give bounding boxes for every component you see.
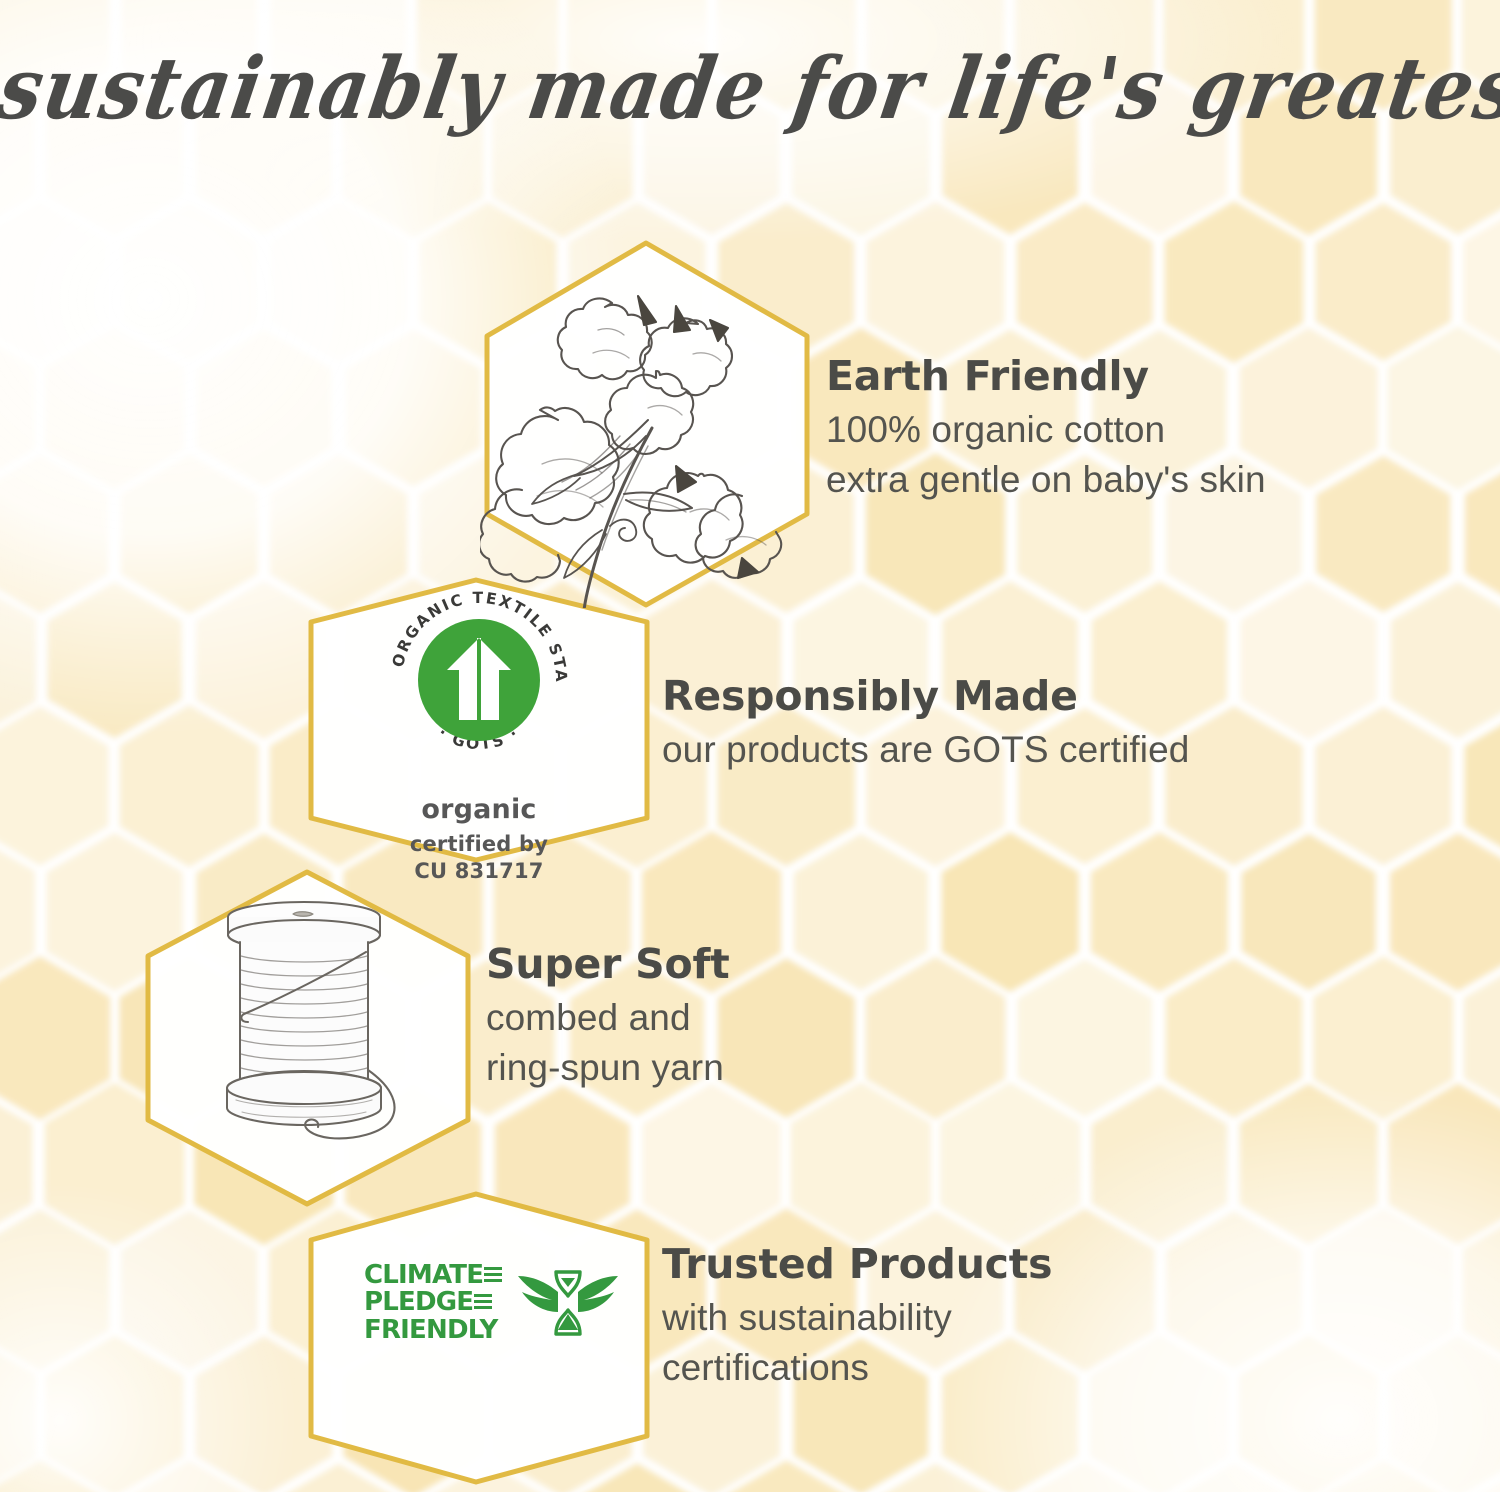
feature-text-earth-friendly: Earth Friendly 100% organic cotton extra…: [826, 352, 1266, 504]
page-title: sustainably made for life's greatest joy…: [0, 44, 1500, 133]
cpf-bars-icon: [484, 1267, 502, 1285]
cpf-line-2: PLEDGE: [364, 1289, 473, 1316]
feature-title: Super Soft: [486, 940, 730, 988]
feature-line: 100% organic cotton: [826, 405, 1266, 454]
feature-text-super-soft: Super Soft combed and ring-spun yarn: [486, 940, 730, 1092]
gots-seal-icon: GLOBAL ORGANIC TEXTILE STANDARD · GOTS ·: [334, 580, 624, 780]
cpf-line-3: FRIENDLY: [364, 1317, 498, 1344]
gots-certification-logo: GLOBAL ORGANIC TEXTILE STANDARD · GOTS ·…: [334, 580, 624, 885]
feature-line: with sustainability: [662, 1293, 1052, 1342]
winged-hourglass-icon: [516, 1262, 620, 1344]
feature-text-responsibly-made: Responsibly Made our products are GOTS c…: [662, 672, 1189, 775]
sustainability-infographic: sustainably made for life's greatest joy…: [0, 0, 1500, 1492]
feature-line: certifications: [662, 1343, 1052, 1392]
feature-title: Responsibly Made: [662, 672, 1189, 720]
feature-line: ring-spun yarn: [486, 1043, 730, 1092]
feature-title: Trusted Products: [662, 1240, 1052, 1288]
gots-certified-by: certified by: [334, 831, 624, 858]
cpf-bars-icon: [474, 1294, 492, 1312]
climate-pledge-text: CLIMATE PLEDGE FRIENDLY: [364, 1262, 502, 1343]
headline-text: sustainably made for life's greatest joy: [0, 39, 1500, 139]
cotton-branch-sketch-icon: [480, 268, 820, 608]
cpf-line-1: CLIMATE: [364, 1262, 483, 1289]
climate-pledge-friendly-logo: CLIMATE PLEDGE FRIENDLY: [364, 1262, 620, 1344]
gots-caption-organic: organic: [334, 794, 624, 825]
feature-line: our products are GOTS certified: [662, 725, 1189, 774]
gots-certifier-code: CU 831717: [334, 858, 624, 885]
feature-text-trusted-products: Trusted Products with sustainability cer…: [662, 1240, 1052, 1392]
gots-caption-certified: certified by CU 831717: [334, 831, 624, 885]
feature-line: combed and: [486, 993, 730, 1042]
feature-line: extra gentle on baby's skin: [826, 455, 1266, 504]
thread-spool-sketch-icon: [200, 890, 450, 1170]
feature-title: Earth Friendly: [826, 352, 1266, 400]
